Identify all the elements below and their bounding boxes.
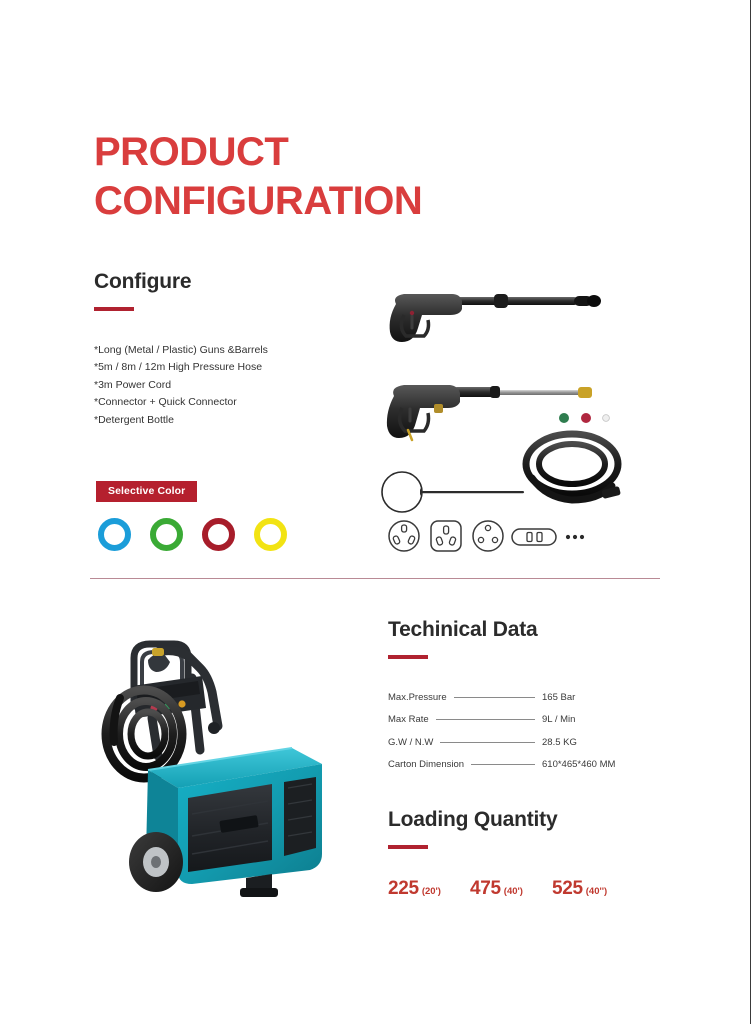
spec-label: Carton Dimension xyxy=(388,759,464,770)
accessories-svg xyxy=(378,282,658,562)
flat-two-pin-plug-icon xyxy=(512,529,556,545)
au-plug-icon xyxy=(389,521,419,551)
table-row: G.W / N.W 28.5 KG xyxy=(388,731,646,754)
page-title: PRODUCT CONFIGURATION xyxy=(94,128,422,226)
page-title-line-1: PRODUCT xyxy=(94,128,422,177)
color-ring-dark-red[interactable] xyxy=(202,518,235,551)
coiled-power-cord-icon xyxy=(526,434,621,500)
leader-line xyxy=(436,719,535,720)
configure-section: Configure *Long (Metal / Plastic) Guns &… xyxy=(94,270,268,429)
spec-value: 9L / Min xyxy=(542,714,646,725)
configure-accent-bar xyxy=(94,307,134,311)
plug-icons-row xyxy=(389,521,584,551)
eu-round-plug-icon xyxy=(473,521,503,551)
technical-data-heading: Techinical Data xyxy=(388,618,646,642)
table-row: Max Rate 9L / Min xyxy=(388,709,646,732)
pressure-washer-product-photo: CWL xyxy=(96,622,346,912)
accessories-illustrations xyxy=(378,282,658,562)
table-row: Carton Dimension 610*465*460 MM xyxy=(388,754,646,777)
spec-label: G.W / N.W xyxy=(388,737,433,748)
color-ring-yellow[interactable] xyxy=(254,518,287,551)
selective-color-badge: Selective Color xyxy=(96,481,197,502)
technical-data-section: Techinical Data Max.Pressure 165 Bar Max… xyxy=(388,618,646,776)
coiled-hose xyxy=(106,690,182,778)
quantity-number: 225 xyxy=(388,878,419,899)
color-ring-green[interactable] xyxy=(150,518,183,551)
detergent-bottle-icon xyxy=(382,472,524,512)
spec-label: Max Rate xyxy=(388,714,429,725)
spec-label: Max.Pressure xyxy=(388,692,447,703)
loading-quantity-item: 525(40'') xyxy=(552,878,607,900)
spec-value: 28.5 KG xyxy=(542,737,646,748)
configure-spec-list: *Long (Metal / Plastic) Guns &Barrels *5… xyxy=(94,342,268,429)
table-row: Max.Pressure 165 Bar xyxy=(388,686,646,709)
configure-heading: Configure xyxy=(94,270,268,294)
wheels xyxy=(129,832,183,892)
selective-color-section: Selective Color xyxy=(96,481,287,551)
list-item: *3m Power Cord xyxy=(94,377,268,394)
leader-line xyxy=(471,764,535,765)
color-ring-blue[interactable] xyxy=(98,518,131,551)
loading-quantity-row: 225(20') 475(40') 525(40'') xyxy=(388,878,607,900)
green-nozzle-tip xyxy=(559,413,569,423)
white-nozzle-tip xyxy=(603,415,610,422)
quantity-unit: (20') xyxy=(422,886,441,897)
loading-quantity-section: Loading Quantity 225(20') 475(40') 525(4… xyxy=(388,808,607,900)
loading-quantity-item: 475(40') xyxy=(470,878,523,900)
spec-value: 610*465*460 MM xyxy=(542,759,646,770)
loading-quantity-heading: Loading Quantity xyxy=(388,808,607,832)
section-divider xyxy=(90,578,660,579)
leader-line xyxy=(440,742,535,743)
spec-value: 165 Bar xyxy=(542,692,646,703)
technical-data-accent-bar xyxy=(388,655,428,659)
quantity-number: 525 xyxy=(552,878,583,899)
technical-data-table: Max.Pressure 165 Bar Max Rate 9L / Min G… xyxy=(388,686,646,776)
product-photo-svg: CWL xyxy=(96,622,346,912)
list-item: *Connector + Quick Connector xyxy=(94,394,268,411)
more-plugs-ellipsis xyxy=(566,535,584,539)
color-ring-row xyxy=(98,518,287,551)
long-plastic-gun-icon xyxy=(390,294,601,342)
uk-plug-icon xyxy=(431,521,461,551)
red-nozzle-tip xyxy=(581,413,591,423)
loading-quantity-accent-bar xyxy=(388,845,428,849)
product-configuration-page: PRODUCT CONFIGURATION Configure *Long (M… xyxy=(0,0,751,1024)
loading-quantity-item: 225(20') xyxy=(388,878,441,900)
list-item: *5m / 8m / 12m High Pressure Hose xyxy=(94,359,268,376)
quantity-unit: (40'') xyxy=(586,886,607,897)
page-title-line-2: CONFIGURATION xyxy=(94,177,422,226)
leader-line xyxy=(454,697,535,698)
list-item: *Detergent Bottle xyxy=(94,412,268,429)
quantity-unit: (40') xyxy=(504,886,523,897)
list-item: *Long (Metal / Plastic) Guns &Barrels xyxy=(94,342,268,359)
quantity-number: 475 xyxy=(470,878,501,899)
